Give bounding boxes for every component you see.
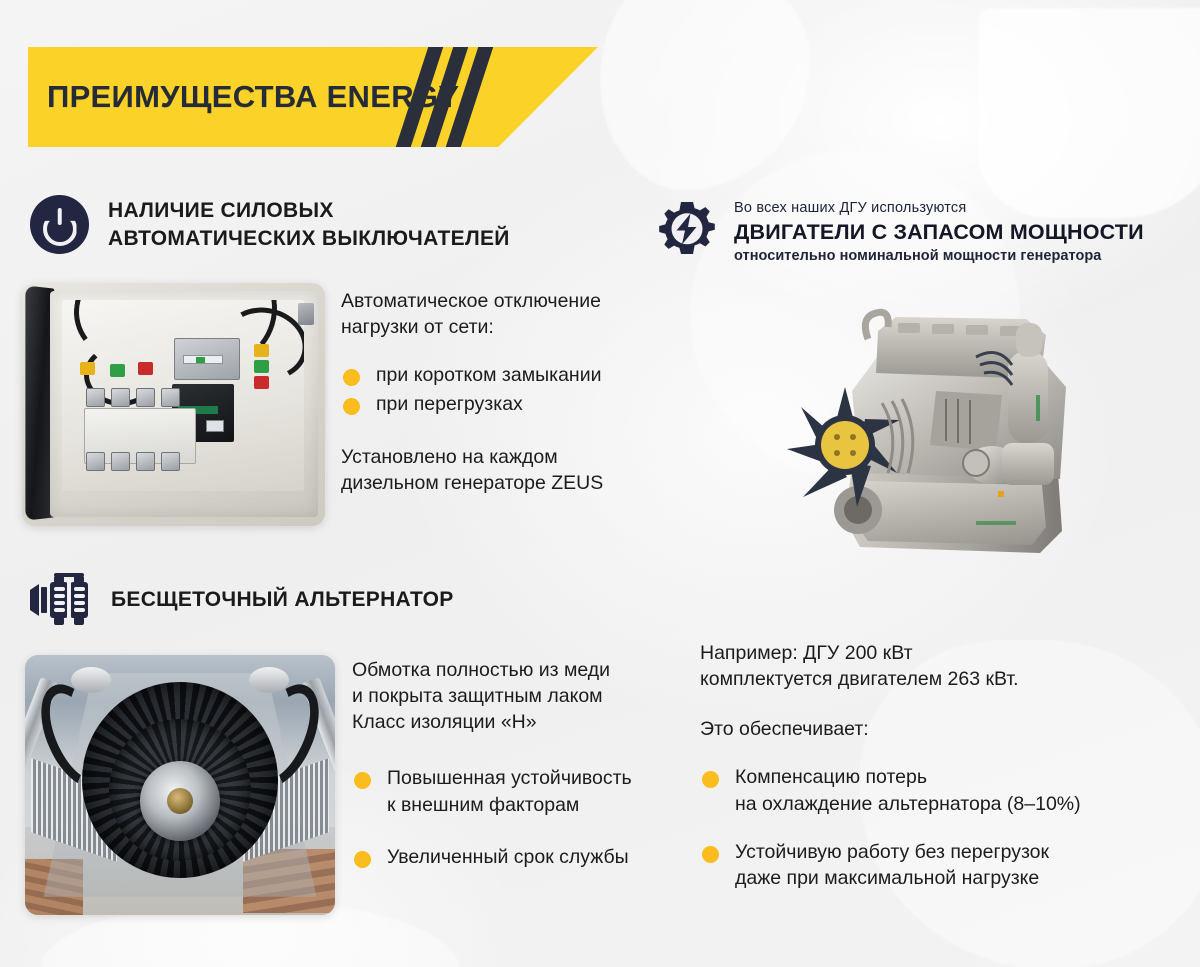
engine-text-block: Например: ДГУ 200 кВт комплектуется двиг… <box>700 640 1180 891</box>
section-title-alternator: БЕСЩЕТОЧНЫЙ АЛЬТЕРНАТОР <box>111 586 454 614</box>
section-header-alternator: БЕСЩЕТОЧНЫЙ АЛЬТЕРНАТОР <box>30 572 454 628</box>
alternator-icon <box>30 572 92 628</box>
list-item: при перегрузках <box>341 391 671 417</box>
background-shape <box>600 0 810 190</box>
banner-stripes-decoration <box>412 47 532 147</box>
engine-example: Например: ДГУ 200 кВт комплектуется двиг… <box>700 640 1180 692</box>
power-icon <box>30 195 89 254</box>
engine-bullet-list: Компенсацию потерь на охлаждение альтерн… <box>700 764 1180 891</box>
list-item: Устойчивую работу без перегрузок даже пр… <box>700 839 1180 891</box>
electrical-cabinet-photo <box>22 283 325 526</box>
breakers-text-block: Автоматическое отключение нагрузки от се… <box>341 288 671 496</box>
gear-bolt-icon <box>656 200 718 262</box>
section-header-engine: Во всех наших ДГУ используются ДВИГАТЕЛИ… <box>656 198 1144 265</box>
engine-subheading: относительно номинальной мощности генера… <box>734 247 1144 265</box>
alternator-text-block: Обмотка полностью из меди и покрыта защи… <box>352 657 682 870</box>
diesel-engine-photo <box>740 295 1135 585</box>
breakers-intro: Автоматическое отключение нагрузки от се… <box>341 288 671 340</box>
breakers-outro: Установлено на каждом дизельном генерато… <box>341 444 671 496</box>
brushless-alternator-photo <box>25 655 335 915</box>
header-banner: ПРЕИМУЩЕСТВА ENERGY <box>28 47 598 147</box>
list-item: при коротком замыкании <box>341 362 671 388</box>
list-item: Компенсацию потерь на охлаждение альтерн… <box>700 764 1180 816</box>
breakers-bullet-list: при коротком замыкании при перегрузках <box>341 362 671 417</box>
list-item: Повышенная устойчивость к внешним фактор… <box>352 765 682 817</box>
section-title-engine: ДВИГАТЕЛИ С ЗАПАСОМ МОЩНОСТИ <box>734 219 1144 246</box>
engine-eyebrow: Во всех наших ДГУ используются <box>734 199 1144 217</box>
page-title: ПРЕИМУЩЕСТВА ENERGY <box>47 79 459 115</box>
background-shape <box>978 8 1200 218</box>
section-header-breakers: НАЛИЧИЕ СИЛОВЫХ АВТОМАТИЧЕСКИХ ВЫКЛЮЧАТЕ… <box>30 195 510 254</box>
infographic-page: ПРЕИМУЩЕСТВА ENERGY НАЛИЧИЕ СИЛОВЫХ АВТО… <box>0 0 1200 967</box>
list-item: Увеличенный срок службы <box>352 844 682 870</box>
section-title-breakers: НАЛИЧИЕ СИЛОВЫХ АВТОМАТИЧЕСКИХ ВЫКЛЮЧАТЕ… <box>108 197 510 252</box>
engine-provides-label: Это обеспечивает: <box>700 716 1180 742</box>
alternator-intro: Обмотка полностью из меди и покрыта защи… <box>352 657 682 735</box>
alternator-bullet-list: Повышенная устойчивость к внешним фактор… <box>352 765 682 869</box>
